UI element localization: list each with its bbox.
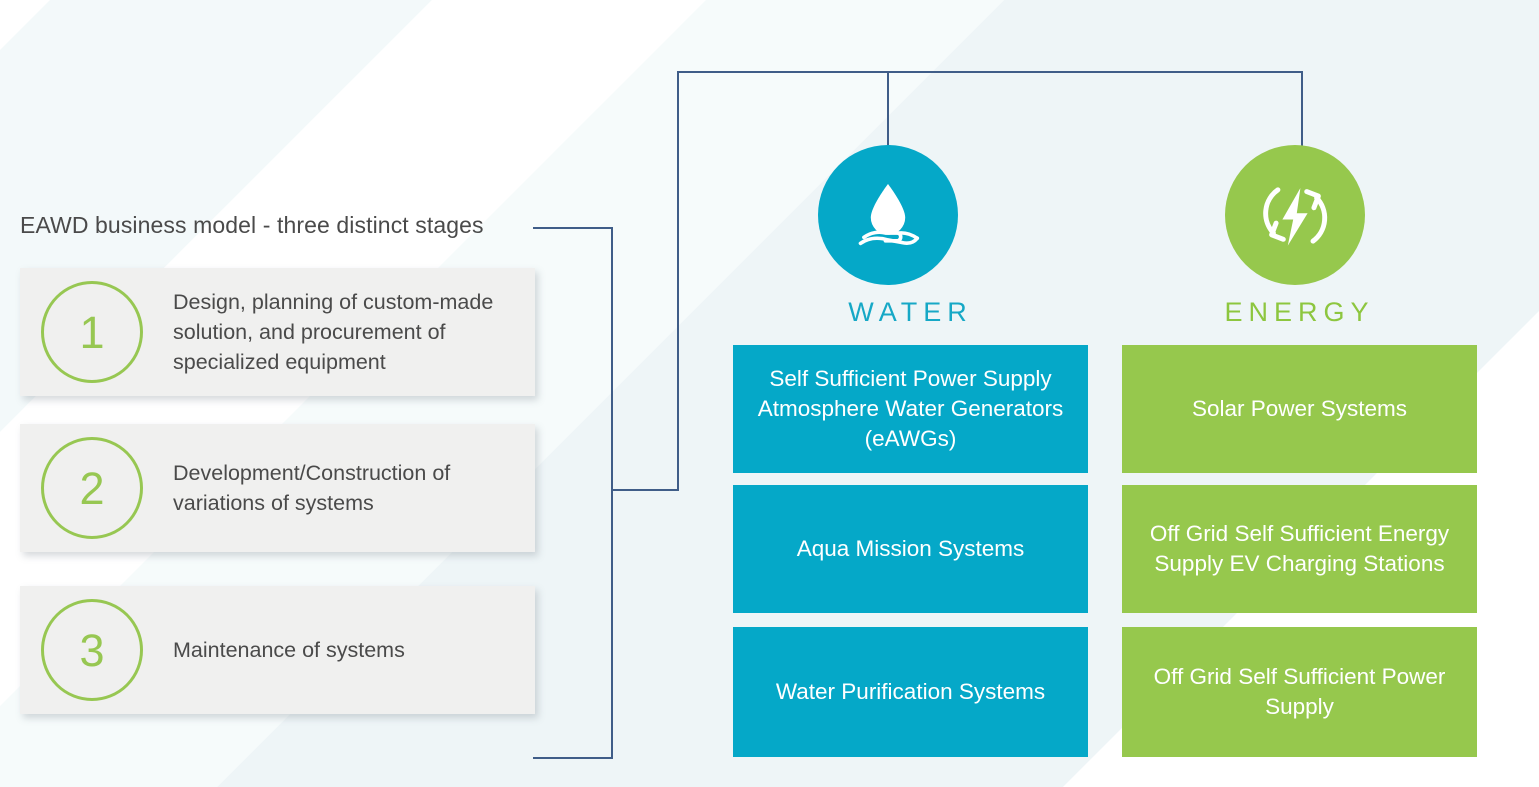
lightning-bolt-recycle-icon — [1225, 145, 1365, 285]
connector-water-drop — [887, 71, 889, 153]
connector-secondary-vertical — [677, 72, 679, 491]
connector-energy-drop — [1301, 71, 1303, 153]
stage-description: Design, planning of custom-made solution… — [173, 287, 521, 377]
water-service-box[interactable]: Water Purification Systems — [733, 627, 1088, 757]
energy-service-box[interactable]: Off Grid Self Sufficient Energy Supply E… — [1122, 485, 1477, 613]
energy-column-heading: ENERGY — [1122, 297, 1477, 328]
stage-description: Development/Construction of variations o… — [173, 458, 521, 518]
energy-service-box[interactable]: Solar Power Systems — [1122, 345, 1477, 473]
energy-service-label: Off Grid Self Sufficient Energy Supply E… — [1132, 519, 1467, 579]
energy-service-box[interactable]: Off Grid Self Sufficient Power Supply — [1122, 627, 1477, 757]
stage-description: Maintenance of systems — [173, 635, 405, 665]
energy-service-label: Off Grid Self Sufficient Power Supply — [1132, 662, 1467, 722]
water-service-label: Water Purification Systems — [743, 677, 1078, 707]
water-drop-in-hand-icon — [818, 145, 958, 285]
water-service-label: Self Sufficient Power Supply Atmosphere … — [743, 364, 1078, 454]
connector-mid-horizontal — [611, 489, 679, 491]
water-service-box[interactable]: Aqua Mission Systems — [733, 485, 1088, 613]
water-column-heading: WATER — [733, 297, 1088, 328]
stage-number-badge: 1 — [41, 281, 143, 383]
energy-service-label: Solar Power Systems — [1132, 394, 1467, 424]
stage-card[interactable]: 2 Development/Construction of variations… — [20, 424, 535, 552]
stage-number-badge: 2 — [41, 437, 143, 539]
stage-number-badge: 3 — [41, 599, 143, 701]
page-title: EAWD business model - three distinct sta… — [20, 212, 484, 239]
water-service-box[interactable]: Self Sufficient Power Supply Atmosphere … — [733, 345, 1088, 473]
connector-top-horizontal — [677, 71, 1303, 73]
connector-main-vertical — [611, 227, 613, 759]
stage-card[interactable]: 1 Design, planning of custom-made soluti… — [20, 268, 535, 396]
slide-canvas: EAWD business model - three distinct sta… — [0, 0, 1539, 787]
water-service-label: Aqua Mission Systems — [743, 534, 1078, 564]
business-model-panel: EAWD business model - three distinct sta… — [0, 0, 560, 787]
stage-card[interactable]: 3 Maintenance of systems — [20, 586, 535, 714]
